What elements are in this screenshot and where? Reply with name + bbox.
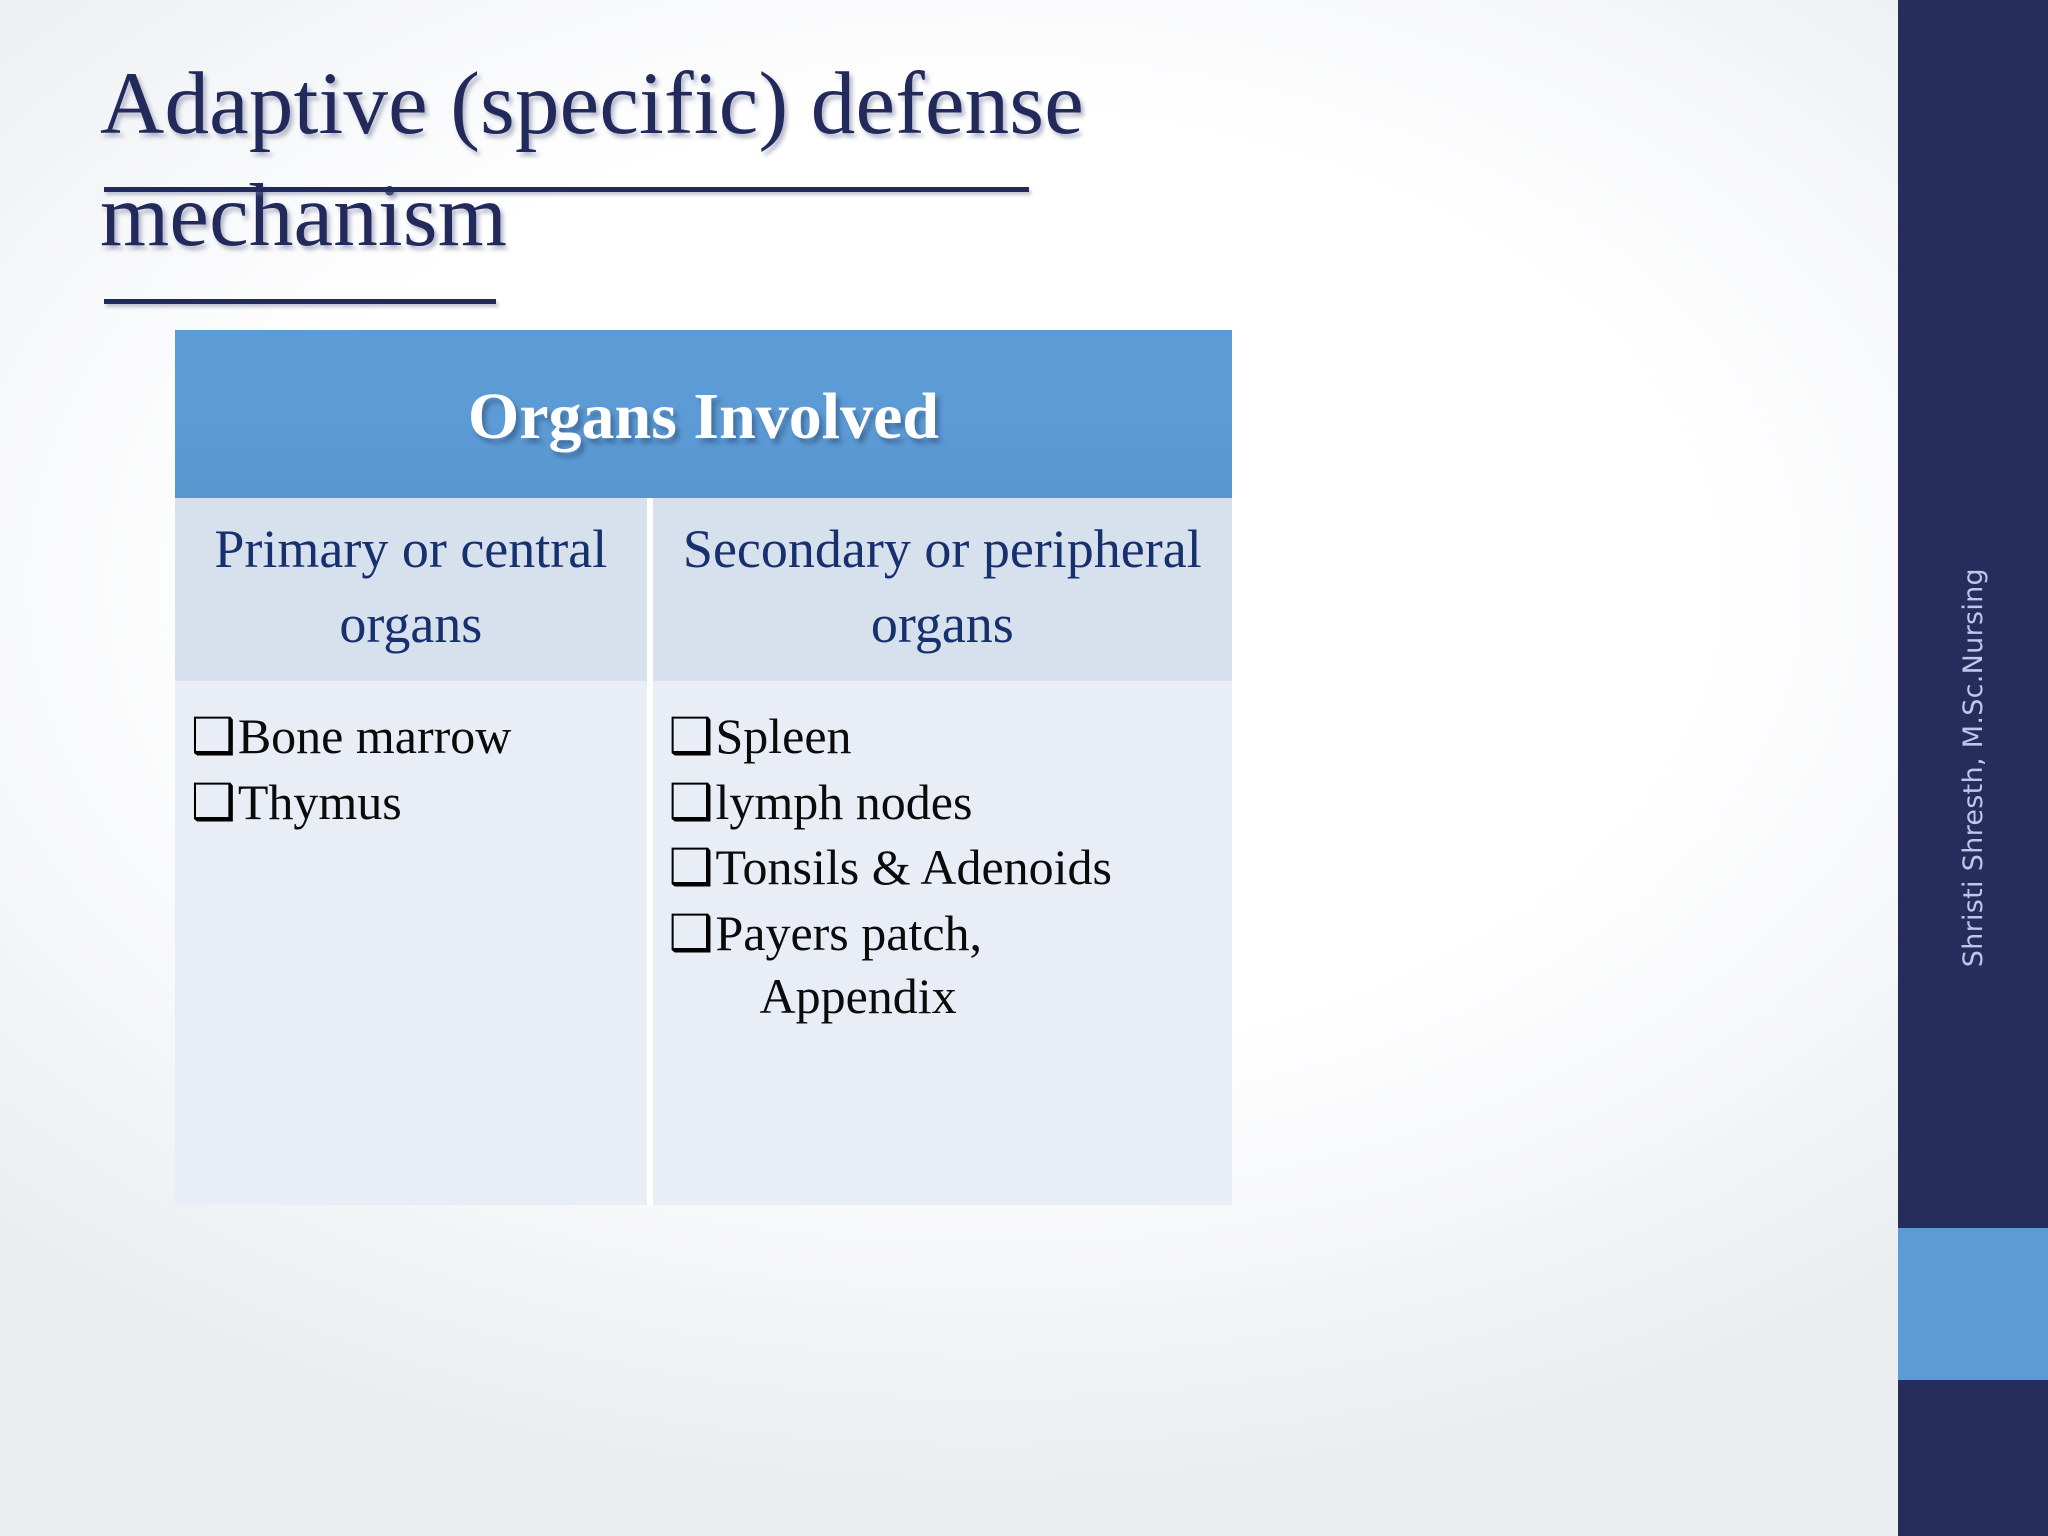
list-item: ❑ Thymus [191,771,625,835]
table-title-cell: Organs Involved [175,330,1232,498]
checkbox-bullet-icon: ❑ [191,771,236,835]
table-column-header-row: Primary or central organs Secondary or p… [175,498,1232,681]
checkbox-bullet-icon: ❑ [669,902,714,966]
page-title: Adaptive (specific) defense mechanism [100,48,1380,272]
list-item-label: lymph nodes [715,771,1210,835]
list-item-label: Payers patch, Appendix [715,902,1210,1029]
list-item-label: Thymus [238,771,625,835]
checkbox-bullet-icon: ❑ [191,705,236,769]
list-item: ❑ Bone marrow [191,705,625,769]
list-item: ❑ Tonsils & Adenoids [669,836,1210,900]
author-credit-label: Shristi Shresth, M.Sc.Nursing [1958,568,1989,967]
table-title-label: Organs Involved [175,378,1232,450]
primary-organs-list: ❑ Bone marrow ❑ Thymus [191,705,625,834]
list-item-label: Spleen [715,705,1210,769]
secondary-organs-list: ❑ Spleen ❑ lymph nodes ❑ Tonsils & Adeno… [669,705,1210,1029]
checkbox-bullet-icon: ❑ [669,705,714,769]
column-header-primary-label: Primary or central organs [203,512,619,661]
column-header-primary: Primary or central organs [175,498,653,681]
checkbox-bullet-icon: ❑ [669,771,714,835]
list-item-label-line-2: Appendix [715,965,1210,1029]
slide-canvas: Adaptive (specific) defense mechanism Or… [0,0,2048,1536]
column-header-secondary: Secondary or peripheral organs [653,498,1232,681]
checkbox-bullet-icon: ❑ [669,836,714,900]
table-row: ❑ Bone marrow ❑ Thymus ❑ Spleen [175,681,1232,1205]
list-item: ❑ lymph nodes [669,771,1210,835]
title-block: Adaptive (specific) defense mechanism [100,48,1380,272]
sidebar-credit-wrapper: Shristi Shresth, M.Sc.Nursing [1898,0,2048,1536]
list-item-label: Tonsils & Adenoids [715,836,1210,900]
list-item: ❑ Payers patch, Appendix [669,902,1210,1029]
organs-table: Organs Involved Primary or central organ… [175,330,1232,1205]
title-underline-line-1 [104,187,1029,192]
table-header-row: Organs Involved [175,330,1232,498]
cell-primary-organs: ❑ Bone marrow ❑ Thymus [175,681,653,1205]
column-header-secondary-label: Secondary or peripheral organs [681,512,1204,661]
right-sidebar: Shristi Shresth, M.Sc.Nursing [1898,0,2048,1536]
list-item: ❑ Spleen [669,705,1210,769]
list-item-label-line-1: Payers patch, [715,905,982,961]
title-underline-line-2 [104,299,496,304]
list-item-label: Bone marrow [238,705,625,769]
cell-secondary-organs: ❑ Spleen ❑ lymph nodes ❑ Tonsils & Adeno… [653,681,1232,1205]
